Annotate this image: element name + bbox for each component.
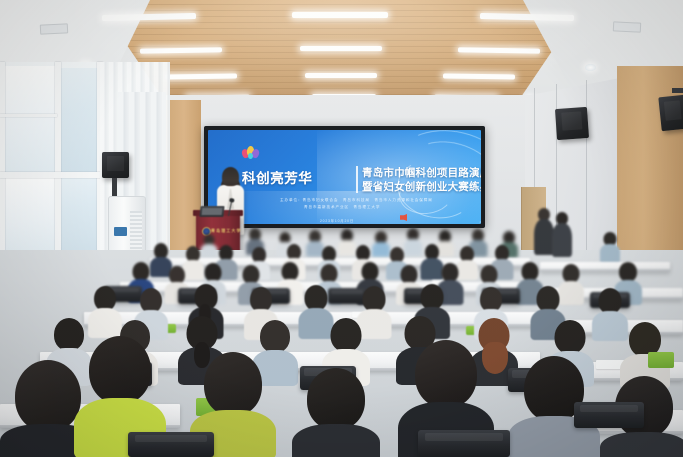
screen-subtitle-line1: 青岛市巾帼科创项目路演展示 [362,165,481,180]
audience-person [600,232,620,262]
screen-subtitle-line2: 暨省妇女创新创业大赛练兵活动 [362,179,481,194]
projection-screen: 科创亮芳华 青岛市巾帼科创项目路演展示 暨省妇女创新创业大赛练兵活动 主办单位：… [208,130,481,224]
speaker-bracket [672,88,683,93]
podium-laptop [199,206,224,217]
window-pane [60,68,98,172]
window-pane [4,66,56,174]
audience-person [292,368,380,457]
speaker-hair [222,167,239,186]
staff-person [534,208,554,254]
wall-speaker [658,95,683,132]
wall-speaker [102,152,129,178]
title-divider [356,166,358,193]
screen-date: 2023年10月20日 [320,218,354,223]
staff-person [552,212,572,256]
conference-hall-photo: 科创亮芳华 青岛市巾帼科创项目路演展示 暨省妇女创新创业大赛练兵活动 主办单位：… [0,0,683,457]
ceiling-vent [613,21,641,32]
window-pane [4,178,56,256]
ceiling-vent [40,23,68,34]
speaker-bracket [112,178,117,196]
chair[interactable] [128,432,214,457]
window-mullion [0,114,57,117]
led-strip-light [300,46,382,51]
screen-organizer-line1: 主办单位：青岛市妇女联合会 青岛市科技局 青岛市人力资源和社会保障局 [280,198,433,203]
led-strip-light [292,12,388,18]
emblem-center [248,153,253,159]
seat-cushion [648,352,674,368]
wall-speaker [555,107,589,140]
window-mullion [0,172,103,178]
window-pane [60,176,98,252]
screen-title-main: 科创亮芳华 [242,167,313,187]
downlight [585,64,596,71]
chair[interactable] [418,430,510,457]
led-strip-light [305,73,377,78]
screen-organizer-line2: 青岛市高新技术产业区 青岛理工大学 [304,205,380,210]
chair[interactable] [574,402,644,428]
laptop-screen [202,208,223,215]
projection-screen-frame: 科创亮芳华 青岛市巾帼科创项目路演展示 暨省妇女创新创业大赛练兵活动 主办单位：… [204,126,485,228]
butterfly-emblem-icon [242,146,259,160]
ac-display-panel [114,227,127,236]
